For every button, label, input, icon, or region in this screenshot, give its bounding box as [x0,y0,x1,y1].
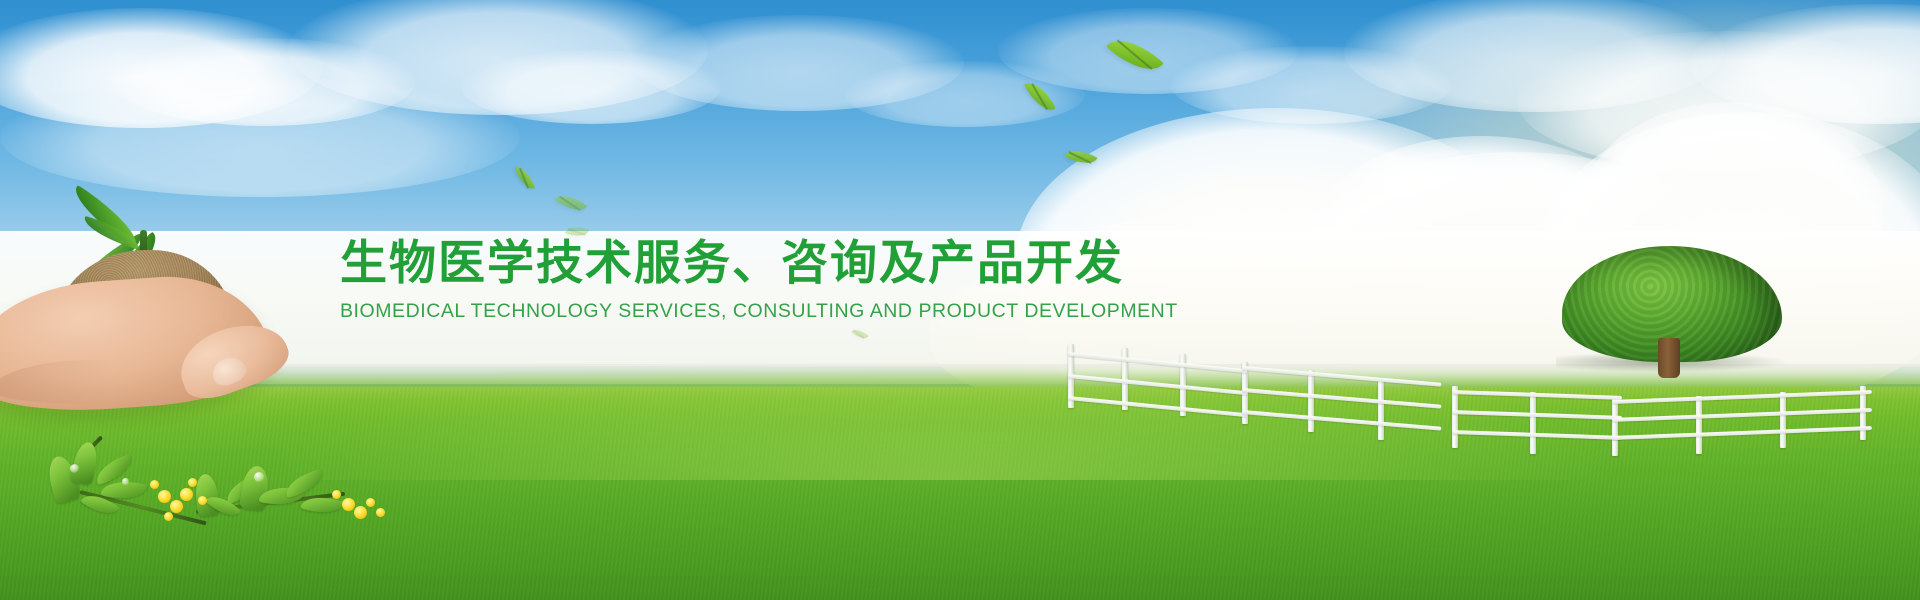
fence [1060,318,1920,478]
flower-icon [332,490,341,499]
fence-rail [1242,410,1442,431]
fence-post [1780,392,1786,448]
plant-leaf [92,454,136,486]
fence-rail [1452,430,1622,440]
plant-leaf [70,440,100,486]
flower-icon [170,500,183,513]
fence-rail [1452,390,1622,400]
flower-icon [342,498,355,511]
flower-icon [158,490,171,503]
fence-rail [1612,408,1872,422]
flowering-plants [46,438,406,548]
flower-icon [150,480,159,489]
fence-rail [1068,374,1248,395]
plant-leaf [194,473,220,517]
dew-drop [70,464,79,473]
dew-drop [254,472,264,482]
dew-drop [122,478,129,485]
fence-post [1378,378,1384,440]
banner-text-block: 生物医学技术服务、咨询及产品开发 BIOMEDICAL TECHNOLOGY S… [340,234,1100,323]
flower-icon [354,506,367,519]
hand-holding-sprout [0,148,330,408]
fence-post [1612,396,1618,456]
flower-icon [376,508,385,517]
flower-icon [180,488,193,501]
fence-post [1452,386,1458,448]
flower-icon [188,478,197,487]
fence-rail [1242,366,1442,387]
fence-rail [1612,426,1872,440]
fence-post [1696,396,1702,454]
fence-rail [1068,396,1248,417]
page-subtitle: BIOMEDICAL TECHNOLOGY SERVICES, CONSULTI… [340,300,1100,323]
flower-icon [366,498,375,507]
hero-banner: 生物医学技术服务、咨询及产品开发 BIOMEDICAL TECHNOLOGY S… [0,0,1920,600]
fence-rail [1612,390,1872,404]
page-title: 生物医学技术服务、咨询及产品开发 [340,234,1100,291]
flower-icon [198,496,207,505]
fence-rail [1242,388,1442,409]
fence-rail [1452,410,1622,420]
fence-post [1308,370,1314,432]
flower-icon [164,512,173,521]
fence-post [1530,392,1536,454]
fence-rail [1068,352,1248,373]
